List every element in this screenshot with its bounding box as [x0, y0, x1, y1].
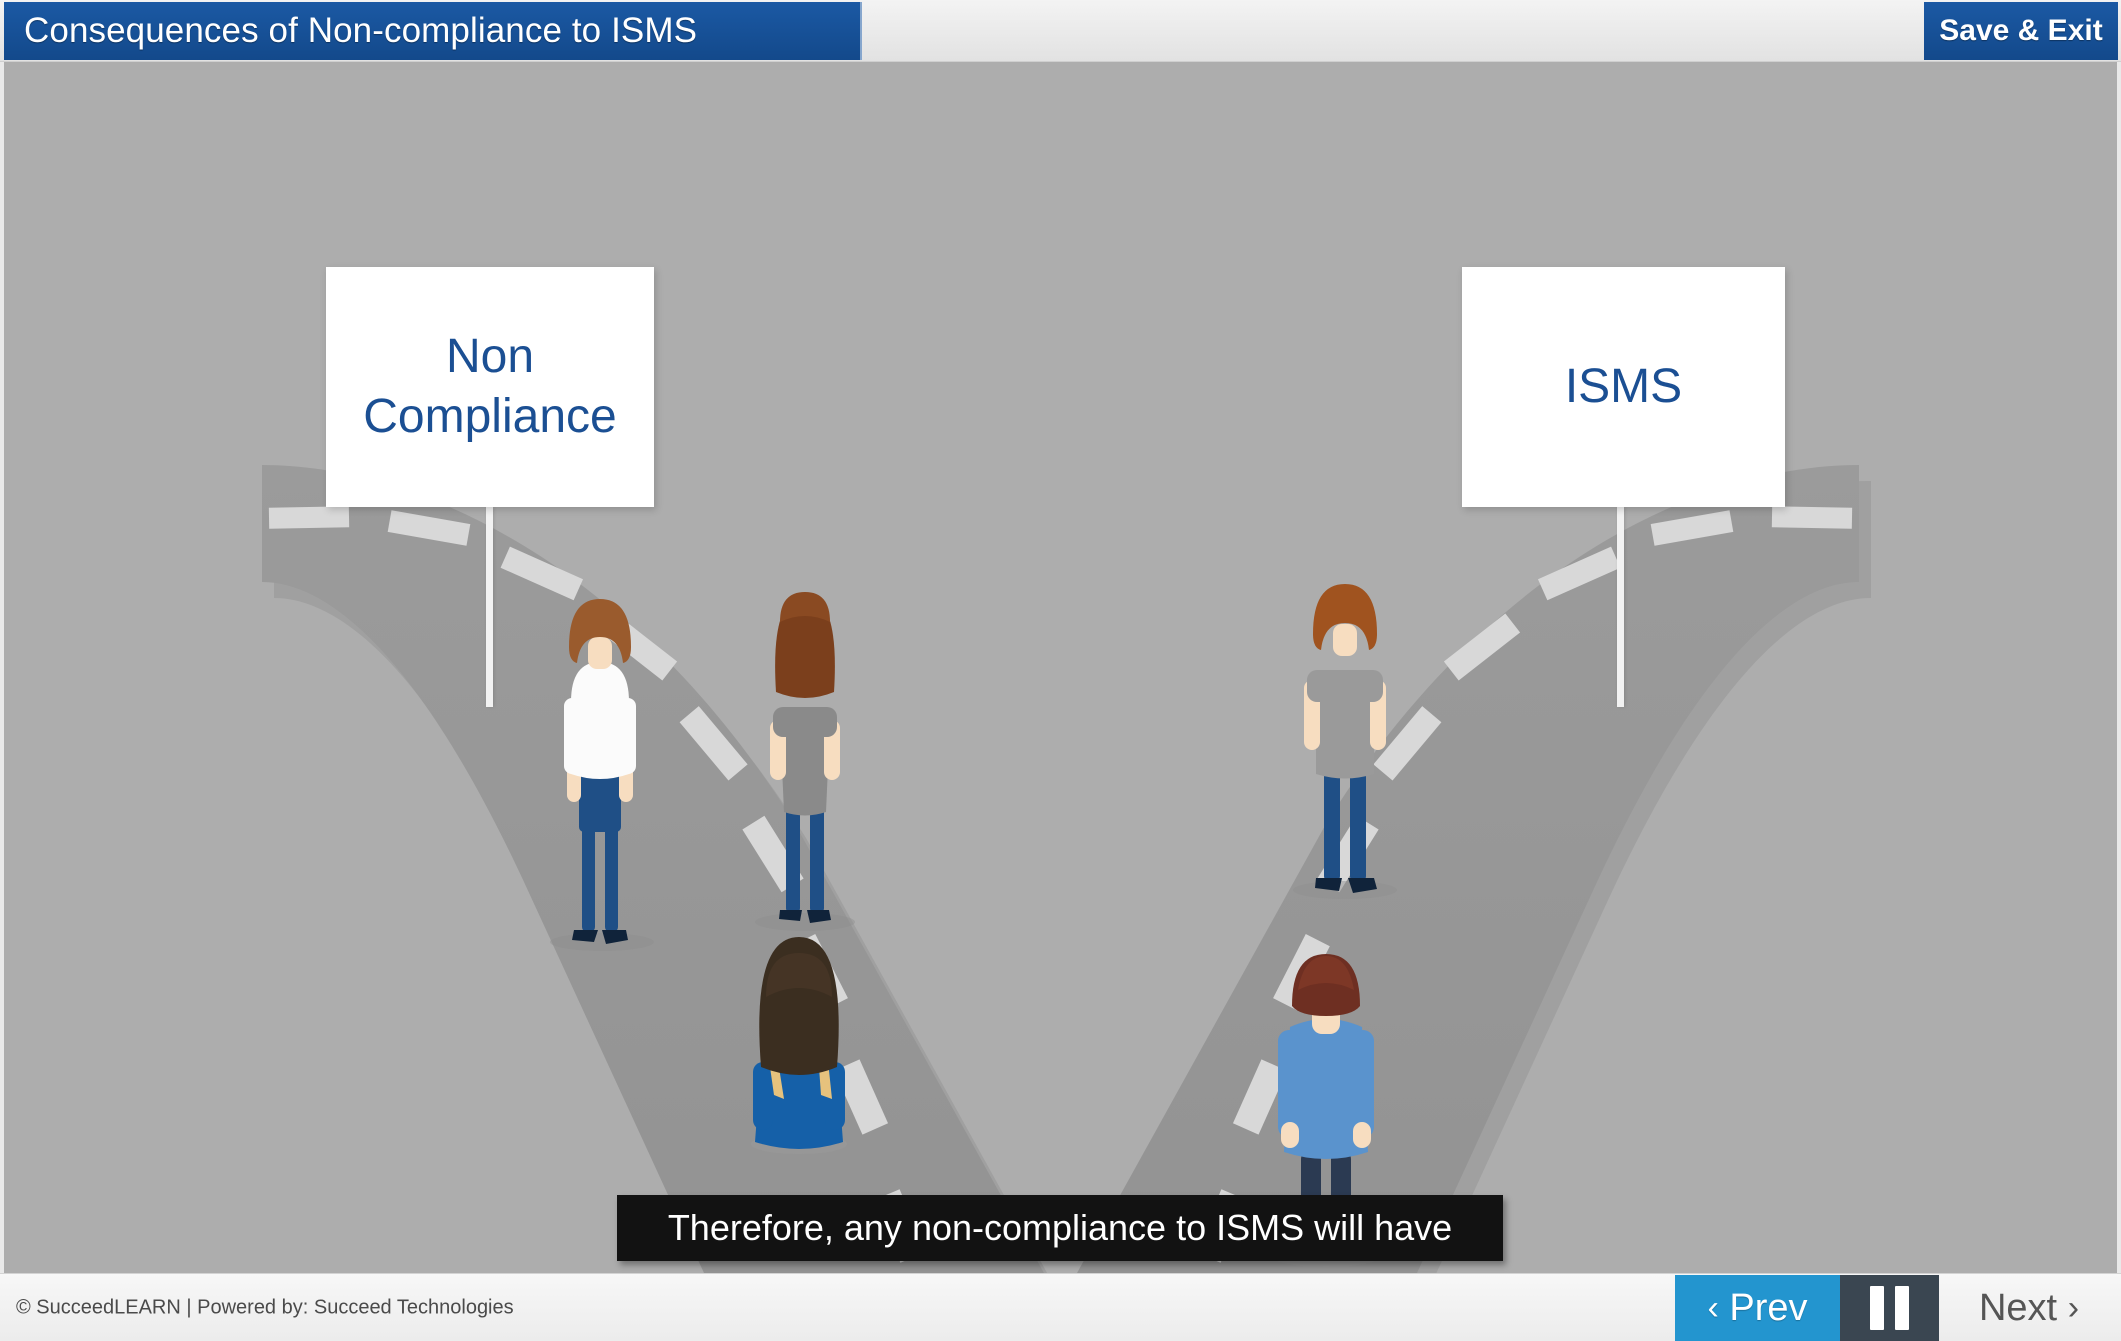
page-title-text: Consequences of Non-compliance to ISMS — [24, 11, 697, 51]
prev-button[interactable]: ‹ Prev — [1675, 1275, 1840, 1341]
next-button[interactable]: Next › — [1939, 1275, 2119, 1341]
save-and-exit-button[interactable]: Save & Exit — [1924, 2, 2118, 60]
bottom-bar: © SucceedLEARN | Powered by: Succeed Tec… — [0, 1273, 2121, 1341]
course-player: Consequences of Non-compliance to ISMS S… — [0, 0, 2121, 1341]
signboard-non-compliance-line2: Compliance — [363, 387, 616, 447]
pause-button[interactable] — [1840, 1275, 1939, 1341]
sign-post-right — [1617, 507, 1624, 707]
slide-stage: Non Compliance ISMS Therefore, any non-c… — [4, 62, 2117, 1273]
chevron-left-icon: ‹ — [1707, 1289, 1718, 1328]
pause-icon-bar-left — [1870, 1286, 1884, 1330]
sign-post-left — [486, 507, 493, 707]
closed-caption-bar: Therefore, any non-compliance to ISMS wi… — [617, 1195, 1503, 1261]
signboard-non-compliance: Non Compliance — [326, 267, 654, 507]
playback-controls: ‹ Prev Next › — [1675, 1275, 2119, 1341]
signboard-isms: ISMS — [1462, 267, 1785, 507]
chevron-right-icon: › — [2068, 1289, 2079, 1328]
top-bar: Consequences of Non-compliance to ISMS S… — [0, 0, 2121, 62]
prev-button-label: Prev — [1729, 1287, 1807, 1330]
page-title: Consequences of Non-compliance to ISMS — [4, 2, 862, 60]
signboard-non-compliance-line1: Non — [363, 327, 616, 387]
copyright-text: © SucceedLEARN | Powered by: Succeed Tec… — [16, 1296, 514, 1319]
pause-icon-bar-right — [1895, 1286, 1909, 1330]
signboard-isms-label: ISMS — [1565, 357, 1682, 417]
road-right-branch — [1077, 465, 1859, 1273]
closed-caption-text: Therefore, any non-compliance to ISMS wi… — [668, 1207, 1452, 1249]
road-fork-illustration — [4, 62, 2117, 1273]
road-left-branch — [262, 465, 1044, 1273]
next-button-label: Next — [1979, 1287, 2057, 1330]
save-and-exit-label: Save & Exit — [1939, 14, 2102, 48]
